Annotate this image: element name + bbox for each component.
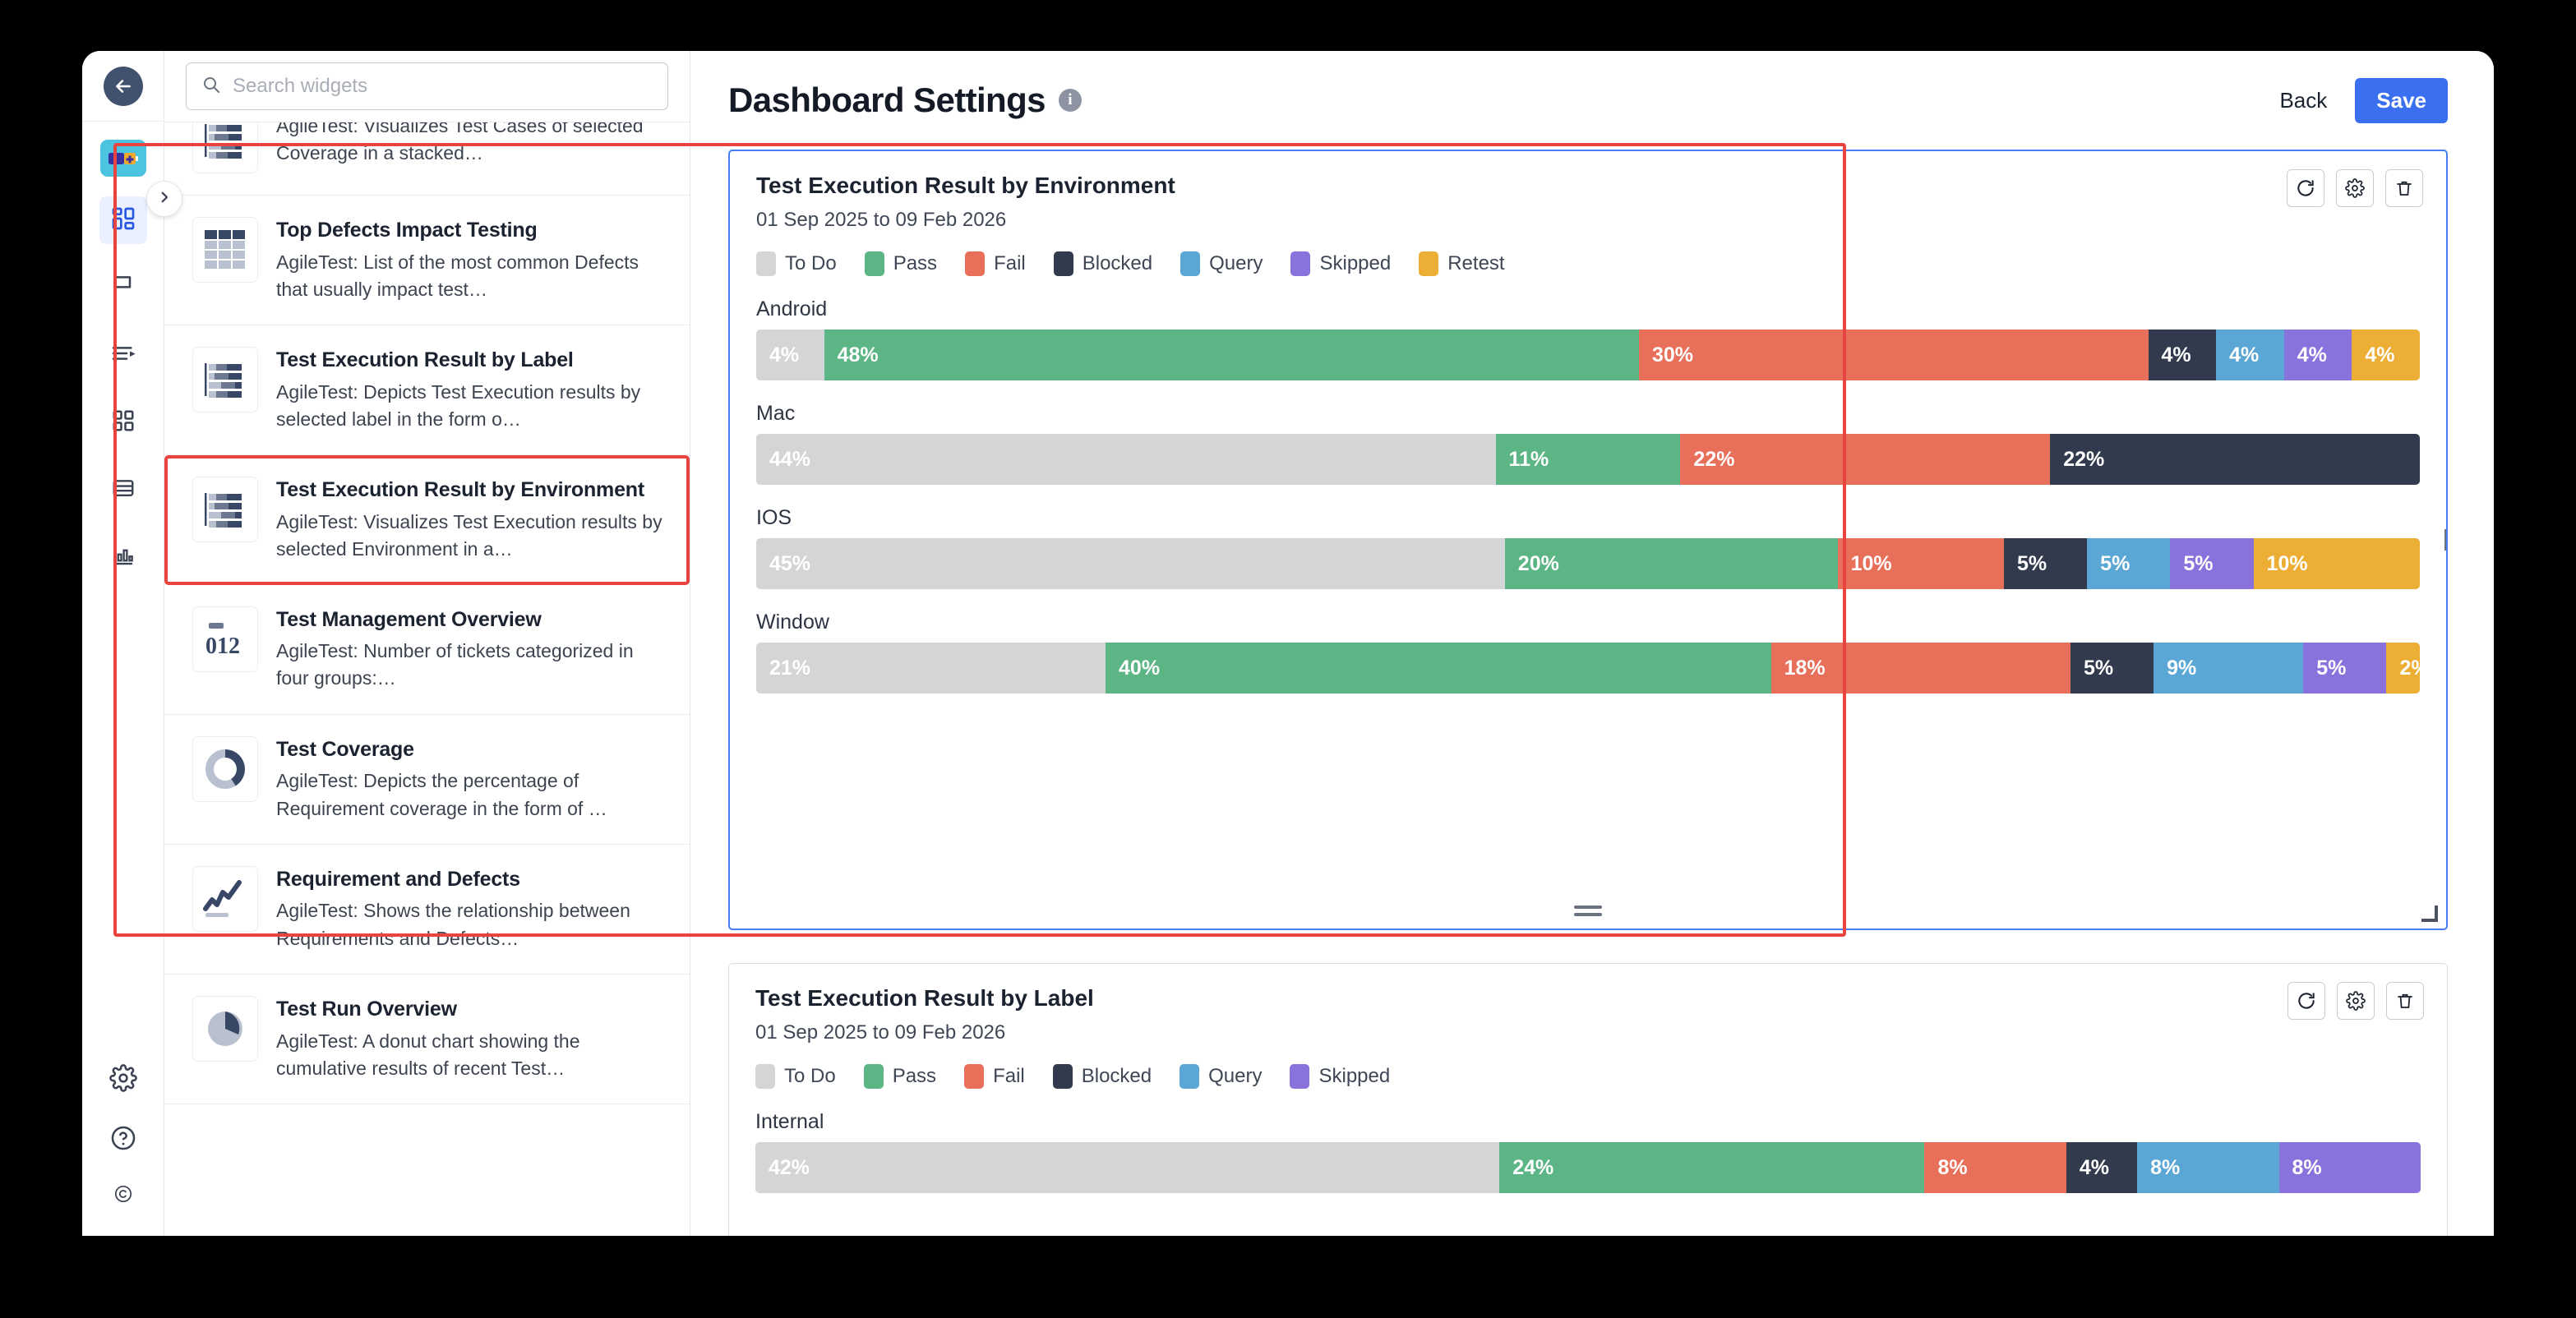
widget-list-item-title: Test Coverage — [276, 736, 665, 763]
bar-group-label: Internal — [755, 1110, 2421, 1134]
legend-item[interactable]: Pass — [865, 251, 937, 276]
sidebar-item-dashboards[interactable] — [99, 196, 147, 244]
legend-swatch-icon — [965, 251, 985, 276]
stacked-bar-segment[interactable]: 4% — [2066, 1142, 2137, 1193]
widget-list-item-title: Top Defects Impact Testing — [276, 217, 665, 244]
widget-list-item-text: Test Execution Result by Environment Agi… — [276, 477, 665, 563]
stacked-bar-thumb — [192, 477, 258, 542]
widget-list[interactable]: AgileTest: Visualizes Test Cases of sele… — [164, 122, 690, 1236]
stacked-bar-segment[interactable]: 4% — [756, 329, 824, 380]
stacked-bar-segment[interactable]: 8% — [2137, 1142, 2278, 1193]
legend-item[interactable]: Blocked — [1053, 1064, 1152, 1089]
stacked-bar-segment[interactable]: 30% — [1639, 329, 2149, 380]
stacked-bar-segment[interactable]: 5% — [2087, 538, 2170, 589]
gear-icon[interactable] — [2337, 982, 2375, 1020]
legend-swatch-icon — [1054, 251, 1073, 276]
stacked-bar-segment[interactable]: 2% — [2386, 643, 2419, 694]
number-012-thumb: 012 — [192, 606, 258, 672]
question-circle-icon[interactable] — [109, 1124, 137, 1156]
legend-item[interactable]: Skipped — [1290, 251, 1391, 276]
legend-label: Fail — [993, 1065, 1025, 1088]
legend-swatch-icon — [1290, 251, 1310, 276]
stacked-bar-segment[interactable]: 10% — [1838, 538, 2004, 589]
rail-bottom-items — [82, 1064, 164, 1236]
legend-item[interactable]: To Do — [756, 251, 837, 276]
rail-header — [82, 51, 164, 122]
stacked-bar-segment[interactable]: 8% — [1924, 1142, 2066, 1193]
widget-title: Test Execution Result by Label — [755, 985, 2421, 1012]
legend-label: Blocked — [1083, 252, 1152, 275]
legend-swatch-icon — [864, 1064, 884, 1089]
legend-label: Retest — [1447, 252, 1504, 275]
table-grid-thumb — [192, 217, 258, 283]
agiletest-logo-icon[interactable] — [100, 140, 146, 177]
panel-collapse-toggle[interactable] — [146, 181, 182, 217]
chart-legend-1: To Do Pass Fail Blocked Query Skipped — [755, 1064, 2421, 1089]
widget-resize-corner[interactable] — [2421, 906, 2438, 922]
stacked-bar-segment[interactable]: 21% — [756, 643, 1106, 694]
sidebar-item-table[interactable] — [99, 466, 147, 514]
stacked-bar-segment[interactable]: 18% — [1771, 643, 2070, 694]
legend-label: Blocked — [1082, 1065, 1152, 1088]
stacked-bar[interactable]: 4%48%30%4%4%4%4% — [756, 329, 2420, 380]
stacked-bar-segment[interactable]: 44% — [756, 434, 1496, 485]
widget-list-item-text: Test Coverage AgileTest: Depicts the per… — [276, 736, 665, 823]
back-arrow-icon[interactable] — [104, 67, 143, 106]
widget-list-item-text: Test Execution Result by Label AgileTest… — [276, 347, 665, 433]
rail-nav-items — [99, 140, 147, 581]
widget-list-item-description: AgileTest: Depicts Test Execution result… — [276, 379, 665, 434]
legend-item[interactable]: Skipped — [1290, 1064, 1390, 1089]
sidebar-item-flag[interactable] — [99, 264, 147, 311]
widget-action-buttons — [2287, 982, 2424, 1020]
legend-swatch-icon — [1419, 251, 1438, 276]
widget-list-item-text: Requirement and Defects AgileTest: Shows… — [276, 866, 665, 952]
application-window: AgileTest: Visualizes Test Cases of sele… — [82, 51, 2494, 1236]
stacked-bar-segment[interactable]: 42% — [755, 1142, 1499, 1193]
back-button[interactable]: Back — [2279, 88, 2327, 113]
widget-list-item-selected[interactable]: Test Execution Result by Environment Agi… — [164, 455, 690, 584]
widget-list-item-title: Test Execution Result by Environment — [276, 477, 665, 504]
search-widgets-box[interactable] — [186, 62, 668, 110]
widget-title: Test Execution Result by Environment — [756, 173, 2420, 199]
page-header: Dashboard Settings i Back Save — [690, 51, 2494, 150]
stacked-bar-segment[interactable]: 4% — [2149, 329, 2217, 380]
sidebar-item-reports[interactable] — [99, 533, 147, 581]
legend-item[interactable]: Pass — [864, 1064, 936, 1089]
stacked-bar-segment[interactable]: 22% — [1680, 434, 2050, 485]
widget-list-item-description: AgileTest: Number of tickets categorized… — [276, 638, 665, 693]
gear-icon[interactable] — [2336, 169, 2374, 207]
widget-list-item[interactable]: Top Defects Impact Testing AgileTest: Li… — [164, 196, 690, 325]
stacked-bar-segment[interactable]: 4% — [2216, 329, 2284, 380]
widget-list-item-description: AgileTest: Visualizes Test Execution res… — [276, 509, 665, 564]
widget-list-item-description: AgileTest: A donut chart showing the cum… — [276, 1028, 665, 1083]
refresh-icon[interactable] — [2287, 982, 2325, 1020]
legend-item[interactable]: Fail — [965, 251, 1026, 276]
legend-swatch-icon — [1290, 1064, 1309, 1089]
grid-dashboard-icon — [110, 205, 136, 236]
table-rows-icon — [111, 476, 136, 505]
save-button[interactable]: Save — [2355, 78, 2448, 123]
stacked-bar-thumb — [192, 122, 258, 173]
stacked-bar-thumb — [192, 347, 258, 412]
search-row — [164, 51, 690, 122]
stacked-bar-segment[interactable]: 24% — [1499, 1142, 1924, 1193]
legend-swatch-icon — [755, 1064, 775, 1089]
bar-chart-icon — [111, 543, 136, 572]
gear-icon[interactable] — [109, 1064, 137, 1096]
stacked-bar-segment[interactable]: 5% — [2170, 538, 2253, 589]
stacked-bar[interactable]: 45%20%10%5%5%5%10% — [756, 538, 2420, 589]
legend-label: Query — [1209, 252, 1263, 275]
widget-list-item-text: Top Defects Impact Testing AgileTest: Li… — [276, 217, 665, 303]
widget-list-item[interactable]: Test Execution Result by Label AgileTest… — [164, 325, 690, 455]
widget-list-item-text: AgileTest: Visualizes Test Cases of sele… — [276, 122, 665, 173]
legend-swatch-icon — [1053, 1064, 1073, 1089]
stacked-bar[interactable]: 42%24%8%4%8%8% — [755, 1142, 2421, 1193]
widget-list-item-title: Test Execution Result by Label — [276, 347, 665, 374]
stacked-bar-segment[interactable]: 11% — [1496, 434, 1681, 485]
chart-bars-1: Internal42%24%8%4%8%8% — [755, 1110, 2421, 1193]
legend-label: To Do — [785, 252, 837, 275]
widget-list-item-description: AgileTest: List of the most common Defec… — [276, 249, 665, 304]
legend-label: Pass — [893, 1065, 936, 1088]
header-actions: Back Save — [2279, 78, 2448, 123]
widget-list-item-title: Test Run Overview — [276, 996, 665, 1023]
widget-list-item[interactable]: AgileTest: Visualizes Test Cases of sele… — [164, 122, 690, 196]
stacked-bar-segment[interactable]: 4% — [2284, 329, 2352, 380]
widget-list-item-title: Requirement and Defects — [276, 866, 665, 893]
legend-item[interactable]: Blocked — [1054, 251, 1152, 276]
legend-item[interactable]: Fail — [964, 1064, 1025, 1089]
sidebar-item-test-plan[interactable] — [99, 331, 147, 379]
dashboard-widget-label[interactable]: Test Execution Result by Label 01 Sep 20… — [728, 963, 2448, 1236]
stacked-bar-segment[interactable]: 5% — [2004, 538, 2087, 589]
widget-list-item-description: AgileTest: Visualizes Test Cases of sele… — [276, 122, 665, 168]
widget-drag-handle[interactable] — [1574, 906, 1602, 920]
widget-list-item-description: AgileTest: Shows the relationship betwee… — [276, 897, 665, 952]
dashboard-widget-environment[interactable]: Test Execution Result by Environment 01 … — [728, 150, 2448, 930]
stacked-bar[interactable]: 44%11%22%22% — [756, 434, 2420, 485]
refresh-icon[interactable] — [2287, 169, 2324, 207]
bar-group-label: Window — [756, 611, 2420, 634]
main-content: Dashboard Settings i Back Save Test Exec… — [690, 51, 2494, 1236]
legend-label: To Do — [784, 1065, 836, 1088]
stacked-bar-segment[interactable]: 10% — [2254, 538, 2420, 589]
legend-item[interactable]: Query — [1180, 251, 1263, 276]
search-input[interactable] — [233, 75, 653, 98]
stacked-bar-segment[interactable]: 22% — [2050, 434, 2420, 485]
widget-resize-right[interactable] — [2443, 529, 2449, 551]
svg-text:012: 012 — [205, 634, 240, 658]
dashboard-board: Test Execution Result by Environment 01 … — [690, 150, 2494, 1236]
legend-item[interactable]: To Do — [755, 1064, 836, 1089]
legend-swatch-icon — [756, 251, 776, 276]
bar-group-label: IOS — [756, 506, 2420, 530]
legend-label: Pass — [893, 252, 937, 275]
flag-icon — [110, 273, 136, 303]
widget-list-item[interactable]: Test Coverage AgileTest: Depicts the per… — [164, 715, 690, 845]
list-play-icon — [110, 340, 136, 371]
stacked-bar-segment[interactable]: 40% — [1106, 643, 1771, 694]
page-title: Dashboard Settings — [728, 81, 1046, 120]
legend-label: Skipped — [1318, 1065, 1390, 1088]
stacked-bar-segment[interactable]: 20% — [1505, 538, 1838, 589]
legend-label: Fail — [994, 252, 1026, 275]
stacked-bar-segment[interactable]: 8% — [2279, 1142, 2421, 1193]
stacked-bar-segment[interactable]: 5% — [2303, 643, 2386, 694]
legend-label: Query — [1208, 1065, 1262, 1088]
legend-item[interactable]: Query — [1180, 1064, 1262, 1089]
widget-action-buttons — [2287, 169, 2423, 207]
widget-date-range: 01 Sep 2025 to 09 Feb 2026 — [756, 209, 2420, 232]
copyright-icon[interactable] — [113, 1184, 133, 1208]
legend-label: Skipped — [1319, 252, 1391, 275]
pie-thumb — [192, 996, 258, 1062]
line-chart-thumb — [192, 866, 258, 932]
widget-library-panel: AgileTest: Visualizes Test Cases of sele… — [164, 51, 690, 1236]
chart-legend-0: To Do Pass Fail Blocked Query Skipped Re… — [756, 251, 2420, 276]
stacked-bar-segment[interactable]: 48% — [824, 329, 1639, 380]
widget-list-item-text: Test Management Overview AgileTest: Numb… — [276, 606, 665, 693]
stacked-bar-segment[interactable]: 4% — [2352, 329, 2420, 380]
grid-four-icon — [111, 408, 136, 437]
info-icon[interactable]: i — [1059, 89, 1082, 112]
bar-group-label: Mac — [756, 402, 2420, 426]
widget-list-item[interactable]: Requirement and Defects AgileTest: Shows… — [164, 845, 690, 975]
stacked-bar[interactable]: 21%40%18%5%9%5%2% — [756, 643, 2420, 694]
stacked-bar-segment[interactable]: 9% — [2154, 643, 2303, 694]
legend-swatch-icon — [1180, 251, 1200, 276]
trash-icon[interactable] — [2386, 982, 2424, 1020]
widget-date-range: 01 Sep 2025 to 09 Feb 2026 — [755, 1021, 2421, 1044]
legend-swatch-icon — [964, 1064, 984, 1089]
widget-list-item-description: AgileTest: Depicts the percentage of Req… — [276, 767, 665, 823]
legend-swatch-icon — [1180, 1064, 1199, 1089]
donut-thumb — [192, 736, 258, 802]
sidebar-item-boards[interactable] — [99, 399, 147, 446]
legend-item[interactable]: Retest — [1419, 251, 1504, 276]
widget-list-item[interactable]: Test Run Overview AgileTest: A donut cha… — [164, 975, 690, 1104]
widget-list-item[interactable]: 012 Test Management Overview AgileTest: … — [164, 585, 690, 715]
left-icon-rail — [82, 51, 164, 1236]
trash-icon[interactable] — [2385, 169, 2423, 207]
bar-group-label: Android — [756, 297, 2420, 321]
chevron-right-icon — [157, 190, 172, 209]
widget-list-item-text: Test Run Overview AgileTest: A donut cha… — [276, 996, 665, 1082]
stacked-bar-segment[interactable]: 45% — [756, 538, 1505, 589]
legend-swatch-icon — [865, 251, 884, 276]
widget-list-item-title: Test Management Overview — [276, 606, 665, 634]
chart-bars-0: Android4%48%30%4%4%4%4%Mac44%11%22%22%IO… — [756, 297, 2420, 694]
search-icon — [201, 75, 221, 99]
stacked-bar-segment[interactable]: 5% — [2070, 643, 2154, 694]
